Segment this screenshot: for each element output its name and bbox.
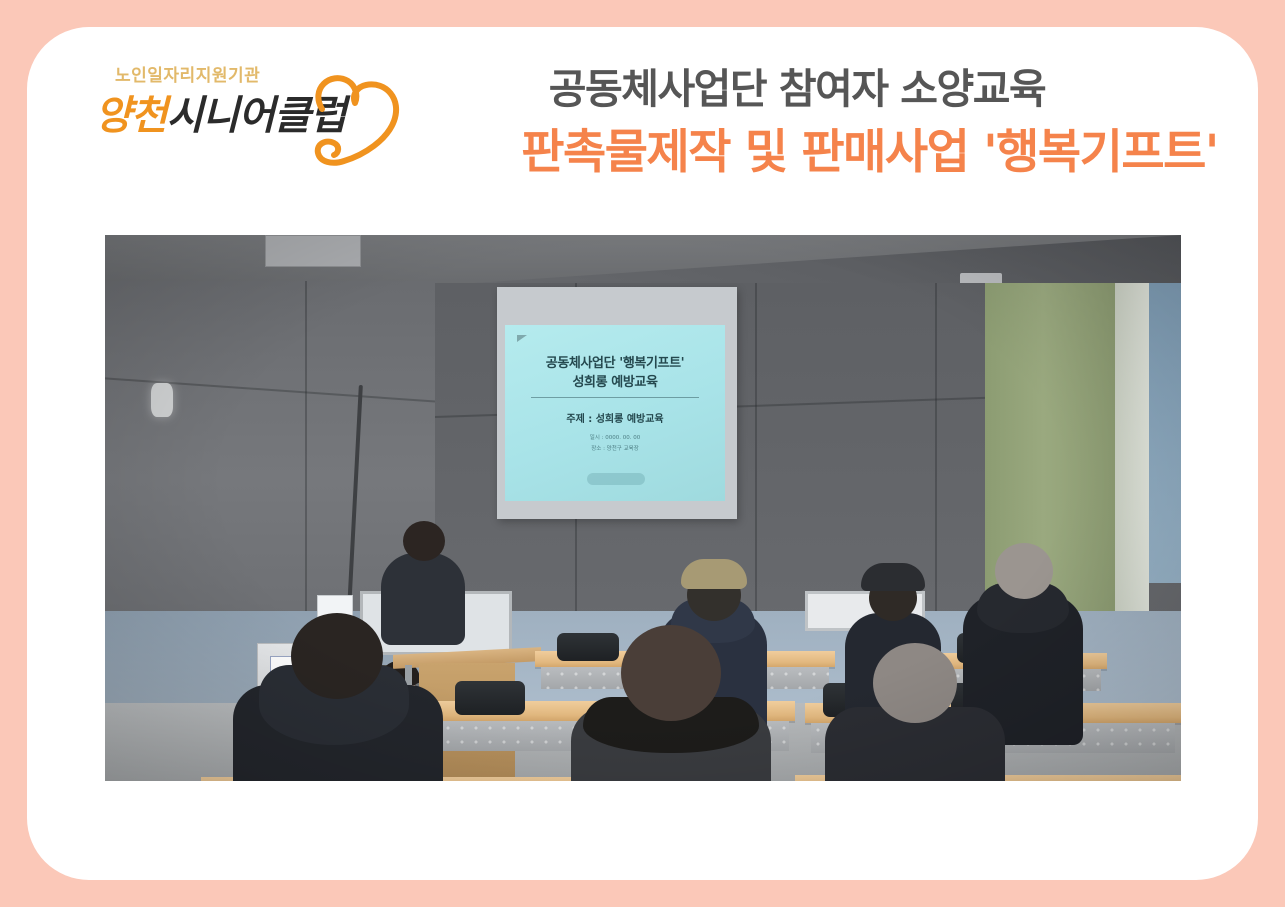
- page-title-secondary: 판촉물제작 및 판매사업 '행복기프트': [417, 113, 1258, 182]
- presentation-slide: 공동체사업단 '행복기프트' 성희롱 예방교육 주제 : 성희롱 예방교육 일시…: [505, 325, 725, 501]
- window-pane: [1149, 283, 1181, 583]
- chair: [455, 681, 525, 715]
- page-title-primary: 공동체사업단 참여자 소양교육: [357, 55, 1237, 115]
- slide-detail-place: 장소 : 양천구 교육장: [505, 444, 725, 452]
- ceiling-vent-icon: [265, 235, 361, 267]
- flat-cap: [681, 559, 747, 589]
- header: 노인일자리지원기관 양천시니어클럽 공동체사업단 참여자 소양교육 판촉물제작 …: [27, 27, 1258, 207]
- slide-title-line1: 공동체사업단 '행복기프트': [505, 352, 725, 371]
- photo-scene: 공동체사업단 '행복기프트' 성희롱 예방교육 주제 : 성희롱 예방교육 일시…: [105, 235, 1181, 781]
- slide-footer-logo: [587, 473, 645, 485]
- projection-screen: 공동체사업단 '행복기프트' 성희롱 예방교육 주제 : 성희롱 예방교육 일시…: [497, 287, 737, 519]
- slide-corner-mark-icon: [517, 335, 527, 342]
- title-block: 공동체사업단 참여자 소양교육 판촉물제작 및 판매사업 '행복기프트': [357, 55, 1258, 185]
- event-photo: 공동체사업단 '행복기프트' 성희롱 예방교육 주제 : 성희롱 예방교육 일시…: [105, 235, 1181, 781]
- page-frame: 노인일자리지원기관 양천시니어클럽 공동체사업단 참여자 소양교육 판촉물제작 …: [0, 0, 1285, 907]
- attendee-front-center: [571, 621, 771, 781]
- slide-subject: 주제 : 성희롱 예방교육: [505, 410, 725, 425]
- slide-divider: [531, 397, 699, 398]
- curtain-strip: [1115, 283, 1149, 623]
- content-card: 노인일자리지원기관 양천시니어클럽 공동체사업단 참여자 소양교육 판촉물제작 …: [27, 27, 1258, 880]
- hat: [861, 563, 925, 591]
- slide-title-line2: 성희롱 예방교육: [505, 371, 725, 390]
- logo-wordmark-orange: 양천: [95, 93, 167, 139]
- attendee-front-right: [825, 637, 1005, 781]
- attendee-front-left: [233, 603, 443, 781]
- slide-detail-date: 일시 : 0000. 00. 00: [505, 433, 725, 441]
- wall-light-icon: [151, 383, 173, 417]
